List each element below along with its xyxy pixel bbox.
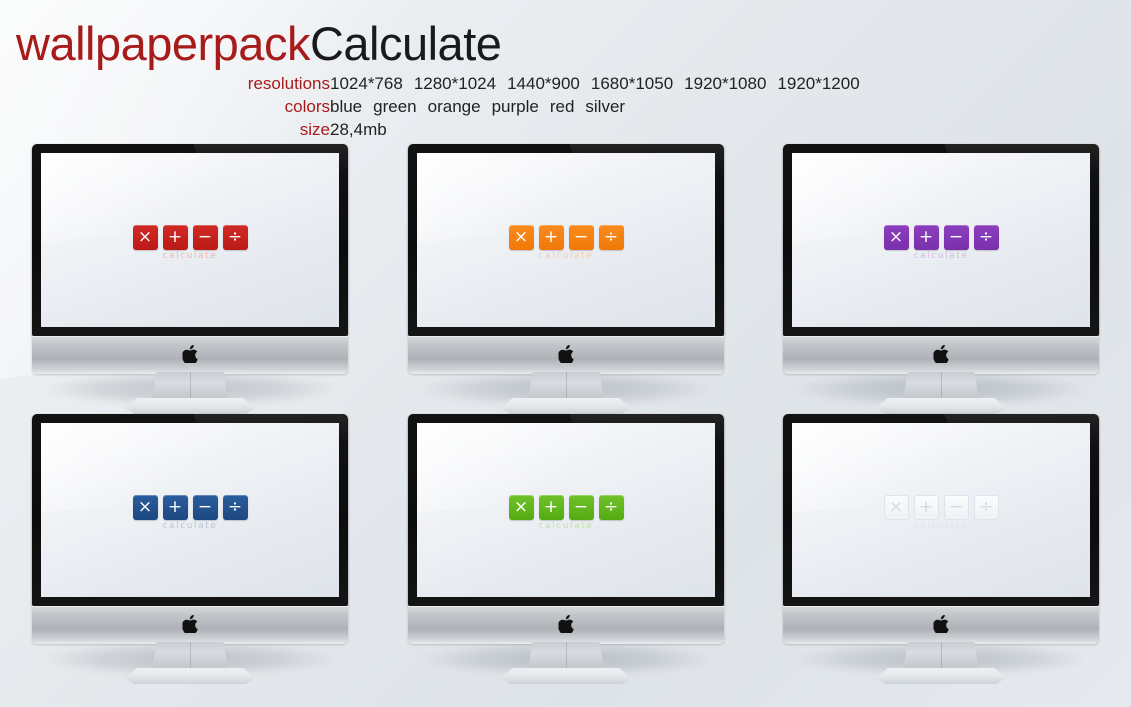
monitor-chin [32, 336, 348, 374]
monitor-stand-base [125, 398, 255, 414]
monitor-chin [408, 606, 724, 644]
monitor-bezel: ×+−÷calculate [408, 144, 724, 336]
wallpaper-art-silver: ×+−÷calculate [792, 495, 1090, 532]
operator-tile-row: ×+−÷ [884, 225, 999, 250]
metadata-label: colors [0, 97, 330, 117]
title-brand: wallpaperpack [16, 17, 310, 70]
monitor-stand-neck [152, 642, 228, 671]
plus-icon: + [539, 225, 564, 250]
plus-icon: + [914, 225, 939, 250]
wallpaper-art-orange: ×+−÷calculate [417, 225, 715, 262]
apple-logo-icon [934, 615, 949, 633]
monitor-orange: ×+−÷calculate [396, 144, 736, 412]
metadata-value: 1440*900 [507, 74, 580, 93]
monitor-screen[interactable]: ×+−÷calculate [792, 423, 1090, 597]
metadata-values: bluegreenorangepurpleredsilver [330, 97, 625, 117]
monitor-purple: ×+−÷calculate [771, 144, 1111, 412]
metadata-list: resolutions1024*7681280*10241440*9001680… [0, 74, 1020, 143]
plus-icon: + [163, 225, 188, 250]
metadata-value: 28,4mb [330, 120, 387, 139]
divide-icon: ÷ [599, 225, 624, 250]
metadata-value: 1024*768 [330, 74, 403, 93]
wallpaper-pack-poster: wallpaperpackCalculate resolutions1024*7… [0, 0, 1131, 707]
metadata-value: 1920*1080 [684, 74, 766, 93]
minus-icon: − [944, 225, 969, 250]
apple-logo-icon [559, 345, 574, 363]
metadata-value: green [373, 97, 416, 116]
monitor-screen[interactable]: ×+−÷calculate [41, 153, 339, 327]
metadata-value: 1280*1024 [414, 74, 496, 93]
monitor-chin [408, 336, 724, 374]
monitor-stand-neck [528, 372, 604, 401]
metadata-row-size: size28,4mb [0, 120, 1020, 141]
multiply-icon: × [509, 495, 534, 520]
metadata-label: size [0, 120, 330, 140]
wallpaper-art-blue: ×+−÷calculate [41, 495, 339, 532]
stand-neck-seam [190, 372, 191, 401]
operator-tile-row: ×+−÷ [133, 225, 248, 250]
monitor-bezel: ×+−÷calculate [408, 414, 724, 606]
multiply-icon: × [133, 225, 158, 250]
apple-logo-icon [559, 615, 574, 633]
wallpaper-art-green: ×+−÷calculate [417, 495, 715, 532]
minus-icon: − [569, 495, 594, 520]
monitor-red: ×+−÷calculate [20, 144, 360, 412]
operator-tile-row: ×+−÷ [133, 495, 248, 520]
divide-icon: ÷ [974, 495, 999, 520]
monitor-stand-base [876, 668, 1006, 684]
metadata-value: silver [585, 97, 625, 116]
wallpaper-art-red: ×+−÷calculate [41, 225, 339, 262]
metadata-row-resolutions: resolutions1024*7681280*10241440*9001680… [0, 74, 1020, 95]
monitor-screen[interactable]: ×+−÷calculate [417, 153, 715, 327]
monitor-green: ×+−÷calculate [396, 414, 736, 682]
monitor-stand-neck [903, 642, 979, 671]
metadata-value: 1680*1050 [591, 74, 673, 93]
monitor-stand-base [876, 398, 1006, 414]
wallpaper-caption: calculate [162, 521, 217, 532]
apple-logo-icon [183, 615, 198, 633]
metadata-value: red [550, 97, 575, 116]
monitor-blue: ×+−÷calculate [20, 414, 360, 682]
monitor-stand-base [501, 398, 631, 414]
multiply-icon: × [884, 225, 909, 250]
page-title: wallpaperpackCalculate [16, 16, 501, 72]
minus-icon: − [569, 225, 594, 250]
metadata-value: orange [428, 97, 481, 116]
monitor-screen[interactable]: ×+−÷calculate [792, 153, 1090, 327]
metadata-value: 1920*1200 [777, 74, 859, 93]
monitor-screen[interactable]: ×+−÷calculate [417, 423, 715, 597]
multiply-icon: × [133, 495, 158, 520]
monitor-bezel: ×+−÷calculate [32, 414, 348, 606]
monitor-silver: ×+−÷calculate [771, 414, 1111, 682]
monitor-bezel: ×+−÷calculate [783, 414, 1099, 606]
stand-neck-seam [941, 372, 942, 401]
apple-logo-icon [183, 345, 198, 363]
multiply-icon: × [884, 495, 909, 520]
wallpaper-art-purple: ×+−÷calculate [792, 225, 1090, 262]
monitor-bezel: ×+−÷calculate [783, 144, 1099, 336]
apple-logo-icon [934, 345, 949, 363]
monitor-grid: ×+−÷calculate×+−÷calculate×+−÷calculate×… [0, 140, 1131, 700]
monitor-stand-base [501, 668, 631, 684]
metadata-values: 1024*7681280*10241440*9001680*10501920*1… [330, 74, 860, 94]
plus-icon: + [914, 495, 939, 520]
stand-neck-seam [566, 642, 567, 671]
operator-tile-row: ×+−÷ [884, 495, 999, 520]
monitor-stand-neck [528, 642, 604, 671]
monitor-bezel: ×+−÷calculate [32, 144, 348, 336]
multiply-icon: × [509, 225, 534, 250]
divide-icon: ÷ [974, 225, 999, 250]
monitor-chin [783, 606, 1099, 644]
divide-icon: ÷ [223, 225, 248, 250]
operator-tile-row: ×+−÷ [509, 225, 624, 250]
monitor-stand-neck [903, 372, 979, 401]
wallpaper-caption: calculate [162, 251, 217, 262]
monitor-screen[interactable]: ×+−÷calculate [41, 423, 339, 597]
divide-icon: ÷ [599, 495, 624, 520]
minus-icon: − [944, 495, 969, 520]
plus-icon: + [539, 495, 564, 520]
minus-icon: − [193, 225, 218, 250]
metadata-values: 28,4mb [330, 120, 387, 140]
minus-icon: − [193, 495, 218, 520]
wallpaper-caption: calculate [538, 521, 593, 532]
divide-icon: ÷ [223, 495, 248, 520]
wallpaper-caption: calculate [913, 251, 968, 262]
metadata-value: purple [492, 97, 539, 116]
monitor-chin [32, 606, 348, 644]
wallpaper-caption: calculate [913, 521, 968, 532]
stand-neck-seam [190, 642, 191, 671]
wallpaper-caption: calculate [538, 251, 593, 262]
plus-icon: + [163, 495, 188, 520]
monitor-chin [783, 336, 1099, 374]
metadata-label: resolutions [0, 74, 330, 94]
title-name: Calculate [310, 17, 501, 70]
metadata-value: blue [330, 97, 362, 116]
monitor-stand-base [125, 668, 255, 684]
monitor-stand-neck [152, 372, 228, 401]
metadata-row-colors: colorsbluegreenorangepurpleredsilver [0, 97, 1020, 118]
stand-neck-seam [566, 372, 567, 401]
stand-neck-seam [941, 642, 942, 671]
operator-tile-row: ×+−÷ [509, 495, 624, 520]
